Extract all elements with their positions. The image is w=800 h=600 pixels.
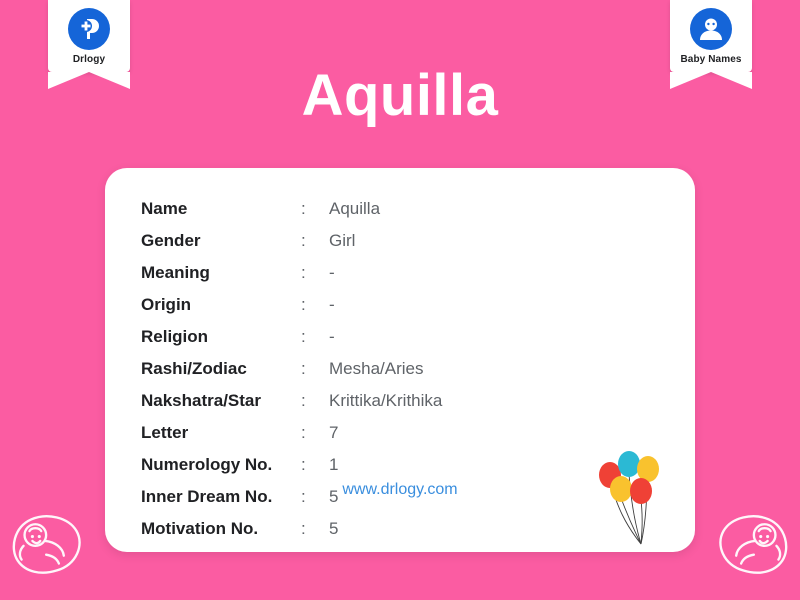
row-value: Girl bbox=[329, 225, 442, 257]
row-separator: : bbox=[301, 257, 329, 289]
row-value: - bbox=[329, 289, 442, 321]
balloons-icon bbox=[577, 444, 687, 552]
row-separator: : bbox=[301, 513, 329, 545]
row-label: Letter bbox=[141, 417, 301, 449]
row-label: Nakshatra/Star bbox=[141, 385, 301, 417]
row-value: Mesha/Aries bbox=[329, 353, 442, 385]
row-label: Rashi/Zodiac bbox=[141, 353, 301, 385]
row-label: Motivation No. bbox=[141, 513, 301, 545]
name-details-card: Name : Aquilla Gender : Girl Meaning : -… bbox=[105, 168, 695, 552]
badge-drlogy-body: Drlogy bbox=[48, 0, 130, 72]
row-value: 5 bbox=[329, 513, 442, 545]
row-separator: : bbox=[301, 353, 329, 385]
row-label: Origin bbox=[141, 289, 301, 321]
table-row: Gender : Girl bbox=[141, 225, 442, 257]
row-separator: : bbox=[301, 417, 329, 449]
row-separator: : bbox=[301, 385, 329, 417]
row-label: Meaning bbox=[141, 257, 301, 289]
table-row: Meaning : - bbox=[141, 257, 442, 289]
badge-baby-names-label: Baby Names bbox=[676, 54, 746, 66]
baby-mother-outline-icon-left bbox=[0, 484, 108, 592]
table-row: Religion : - bbox=[141, 321, 442, 353]
baby-avatar-icon bbox=[690, 8, 732, 50]
table-row: Motivation No. : 5 bbox=[141, 513, 442, 545]
table-row: Origin : - bbox=[141, 289, 442, 321]
table-row: Letter : 7 bbox=[141, 417, 442, 449]
row-separator: : bbox=[301, 289, 329, 321]
row-value: - bbox=[329, 321, 442, 353]
badge-baby-names[interactable]: Baby Names bbox=[670, 0, 752, 72]
row-value: Krittika/Krithika bbox=[329, 385, 442, 417]
row-value: 7 bbox=[329, 417, 442, 449]
row-label: Name bbox=[141, 193, 301, 225]
row-separator: : bbox=[301, 449, 329, 481]
drlogy-logo-icon bbox=[68, 8, 110, 50]
badge-drlogy[interactable]: Drlogy bbox=[48, 0, 130, 72]
row-value: Aquilla bbox=[329, 193, 442, 225]
row-value: 1 bbox=[329, 449, 442, 481]
table-row: Nakshatra/Star : Krittika/Krithika bbox=[141, 385, 442, 417]
row-separator: : bbox=[301, 225, 329, 257]
badge-baby-names-body: Baby Names bbox=[670, 0, 752, 72]
table-row: Numerology No. : 1 bbox=[141, 449, 442, 481]
row-separator: : bbox=[301, 321, 329, 353]
row-label: Numerology No. bbox=[141, 449, 301, 481]
table-row: Name : Aquilla bbox=[141, 193, 442, 225]
row-label: Religion bbox=[141, 321, 301, 353]
row-separator: : bbox=[301, 193, 329, 225]
table-row: Rashi/Zodiac : Mesha/Aries bbox=[141, 353, 442, 385]
row-value: - bbox=[329, 257, 442, 289]
badge-drlogy-label: Drlogy bbox=[54, 54, 124, 66]
row-label: Gender bbox=[141, 225, 301, 257]
baby-mother-outline-icon-right bbox=[692, 484, 800, 592]
